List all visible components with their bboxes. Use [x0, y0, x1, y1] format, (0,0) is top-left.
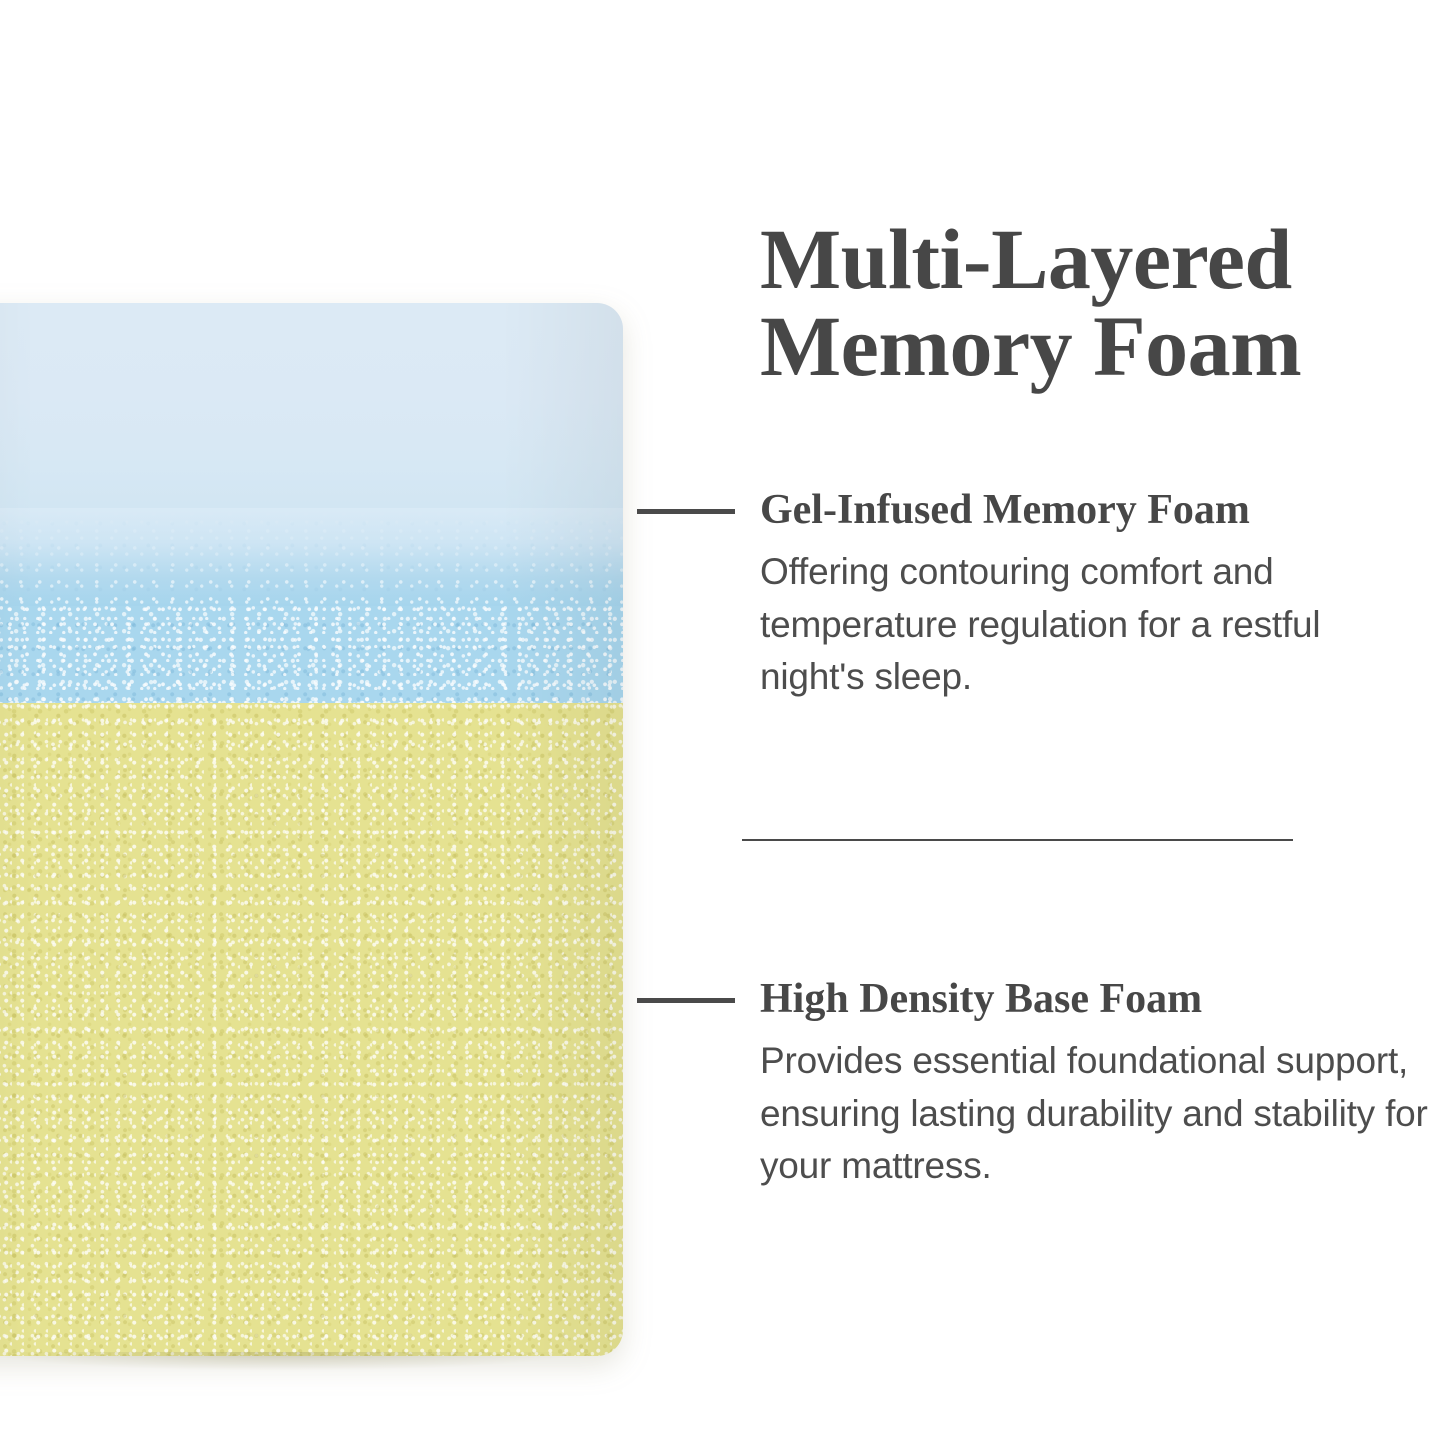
page-title: Multi-Layered Memory Foam	[760, 216, 1420, 391]
page-title-line-1: Multi-Layered	[760, 216, 1420, 304]
content-column: Multi-Layered Memory Foam Gel-Infused Me…	[637, 0, 1445, 1445]
feature-high-density-base-foam: High Density Base Foam Provides essentia…	[637, 977, 1445, 1230]
feature-gel-infused-memory-foam: Gel-Infused Memory Foam Offering contour…	[637, 488, 1445, 741]
gel-foam-edge-transition	[0, 508, 623, 606]
feature-heading-row: Gel-Infused Memory Foam	[637, 488, 1445, 532]
feature-heading: High Density Base Foam	[760, 977, 1202, 1021]
feature-description: Provides essential foundational support,…	[760, 1035, 1432, 1193]
gel-foam-top-surface	[0, 303, 623, 508]
page-title-line-2: Memory Foam	[760, 303, 1420, 391]
leader-dash-icon	[637, 998, 735, 1003]
feature-heading: Gel-Infused Memory Foam	[760, 488, 1250, 532]
foam-block-image	[0, 303, 623, 1356]
leader-dash-icon	[637, 509, 735, 514]
base-foam-layer	[0, 703, 623, 1356]
feature-heading-row: High Density Base Foam	[637, 977, 1445, 1021]
section-divider	[742, 839, 1293, 841]
feature-description: Offering contouring comfort and temperat…	[760, 546, 1432, 704]
gel-foam-porous-face	[0, 606, 623, 703]
